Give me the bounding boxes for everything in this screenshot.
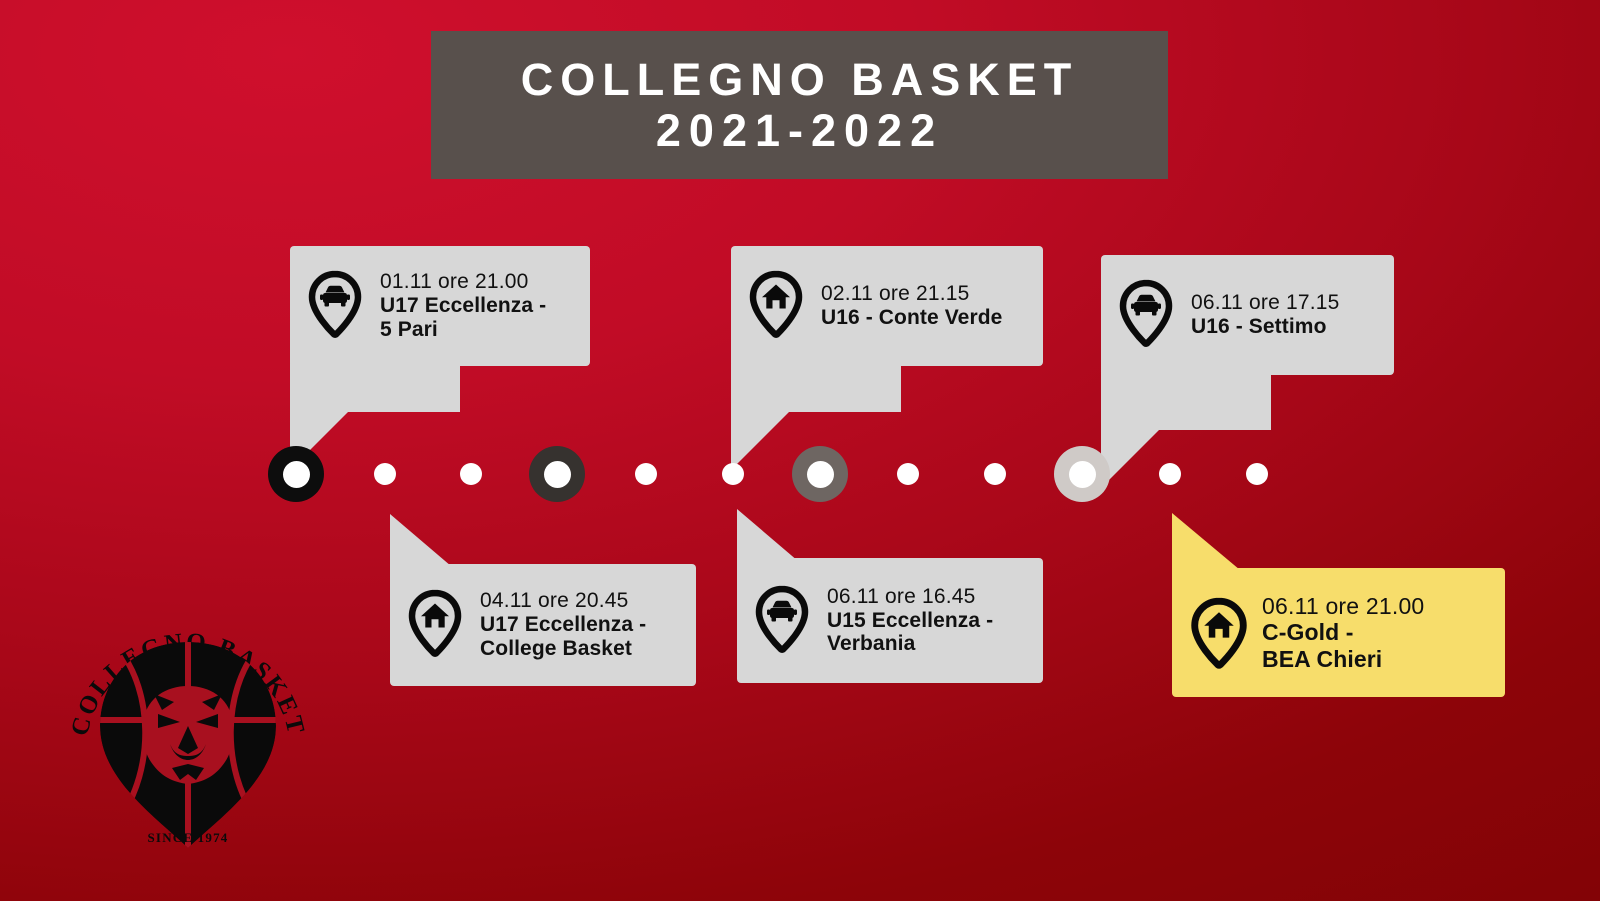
event-match-1-line1: U17 Eccellenza - [380,294,546,318]
timeline-dot-minor[interactable] [1159,463,1181,485]
event-match-5-line2: Verbania [827,632,993,656]
event-datetime-4: 04.11 ore 20.45 [480,589,646,613]
home-pin-icon [745,270,807,342]
timeline-dot-minor[interactable] [635,463,657,485]
timeline-dot-minor[interactable] [460,463,482,485]
logo-since-text: SINCE 1974 [62,830,314,846]
callout-body-5: 06.11 ore 16.45 U15 Eccellenza - Verbani… [737,558,1043,683]
car-pin-icon [304,270,366,342]
callout-body-6: 06.11 ore 21.00 C-Gold - BEA Chieri [1172,568,1505,697]
timeline-dot-minor[interactable] [897,463,919,485]
poster-canvas: COLLEGNO BASKET 2021-2022 01.11 o [0,0,1600,901]
home-pin-icon [1186,597,1248,669]
timeline-dot-minor[interactable] [984,463,1006,485]
event-datetime-2: 02.11 ore 21.15 [821,282,1002,306]
timeline-dot-major-1[interactable] [268,446,324,502]
timeline-dot-major-4[interactable] [1054,446,1110,502]
callout-body-4: 04.11 ore 20.45 U17 Eccellenza - College… [390,564,696,686]
event-datetime-3: 06.11 ore 17.15 [1191,291,1340,315]
event-datetime-1: 01.11 ore 21.00 [380,270,546,294]
page-title: COLLEGNO BASKET [521,57,1079,102]
car-pin-icon [751,585,813,657]
timeline-dot-minor[interactable] [722,463,744,485]
event-match-6-line1: C-Gold - [1262,619,1424,645]
event-text-2: 02.11 ore 21.15 U16 - Conte Verde [821,282,1002,330]
timeline-dot-minor[interactable] [1246,463,1268,485]
callout-body-1: 01.11 ore 21.00 U17 Eccellenza - 5 Pari [290,246,590,366]
event-text-1: 01.11 ore 21.00 U17 Eccellenza - 5 Pari [380,270,546,342]
poster-title-bar: COLLEGNO BASKET 2021-2022 [431,31,1168,179]
timeline-dot-major-2[interactable] [529,446,585,502]
callout-body-3: 06.11 ore 17.15 U16 - Settimo [1101,255,1394,375]
car-pin-icon [1115,279,1177,351]
event-text-5: 06.11 ore 16.45 U15 Eccellenza - Verbani… [827,585,993,657]
event-match-4-line1: U17 Eccellenza - [480,613,646,637]
event-match-2-line1: U16 - Conte Verde [821,306,1002,330]
event-match-6-line2: BEA Chieri [1262,646,1424,672]
timeline-dot-major-3[interactable] [792,446,848,502]
season-subtitle: 2021-2022 [656,108,943,153]
event-match-5-line1: U15 Eccellenza - [827,609,993,633]
club-logo: COLLEGNO BASKET [62,602,314,864]
event-datetime-6: 06.11 ore 21.00 [1262,593,1424,619]
callout-body-2: 02.11 ore 21.15 U16 - Conte Verde [731,246,1043,366]
event-datetime-5: 06.11 ore 16.45 [827,585,993,609]
event-text-6: 06.11 ore 21.00 C-Gold - BEA Chieri [1262,593,1424,672]
timeline-dot-minor[interactable] [374,463,396,485]
event-match-4-line2: College Basket [480,637,646,661]
callout-tail-1 [290,350,460,470]
event-match-3-line1: U16 - Settimo [1191,315,1340,339]
home-pin-icon [404,589,466,661]
event-text-3: 06.11 ore 17.15 U16 - Settimo [1191,291,1340,339]
event-match-1-line2: 5 Pari [380,318,546,342]
event-text-4: 04.11 ore 20.45 U17 Eccellenza - College… [480,589,646,661]
